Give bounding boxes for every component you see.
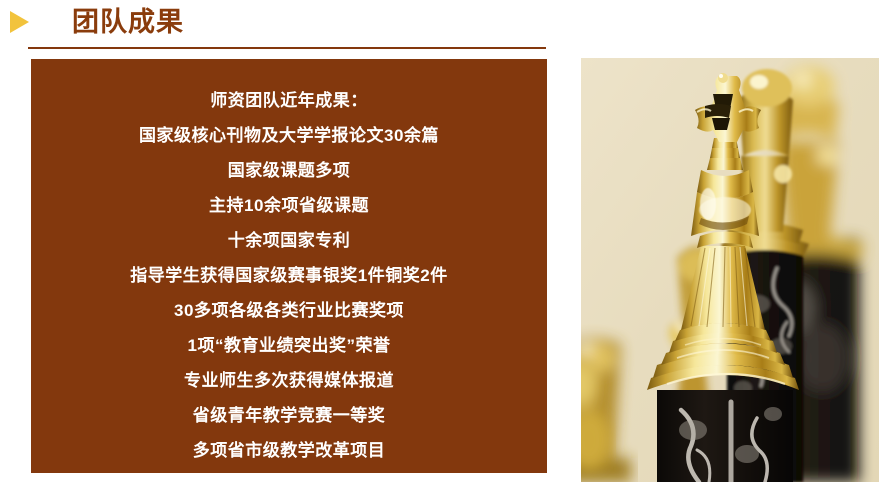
- page-title: 团队成果: [72, 4, 184, 40]
- chess-trophies-illustration: [581, 58, 879, 482]
- list-item: 30多项各级各类行业比赛奖项: [31, 293, 547, 328]
- achievements-list: 师资团队近年成果： 国家级核心刊物及大学学报论文30余篇 国家级课题多项 主持1…: [31, 83, 547, 468]
- chess-trophies-photo: [581, 58, 879, 482]
- list-item: 师资团队近年成果：: [31, 83, 547, 118]
- list-item: 省级青年教学竞赛一等奖: [31, 398, 547, 433]
- list-item: 国家级课题多项: [31, 153, 547, 188]
- achievements-panel: 师资团队近年成果： 国家级核心刊物及大学学报论文30余篇 国家级课题多项 主持1…: [31, 59, 547, 473]
- title-divider: [28, 47, 546, 49]
- list-item: 1项“教育业绩突出奖”荣誉: [31, 328, 547, 363]
- list-item: 多项省市级教学改革项目: [31, 433, 547, 468]
- list-item: 指导学生获得国家级赛事银奖1件铜奖2件: [31, 258, 547, 293]
- list-item: 专业师生多次获得媒体报道: [31, 363, 547, 398]
- play-triangle-icon: [10, 11, 29, 33]
- list-item: 主持10余项省级课题: [31, 188, 547, 223]
- list-item: 十余项国家专利: [31, 223, 547, 258]
- list-item: 国家级核心刊物及大学学报论文30余篇: [31, 118, 547, 153]
- slide-header: 团队成果: [0, 0, 879, 50]
